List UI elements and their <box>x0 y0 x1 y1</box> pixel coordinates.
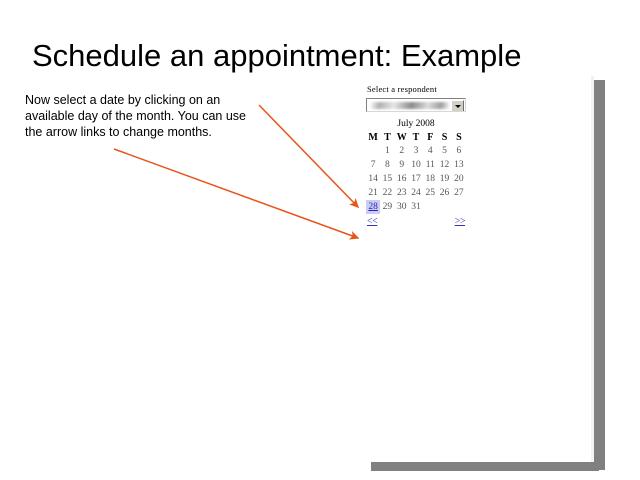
respondent-select[interactable] <box>366 98 466 112</box>
calendar-day[interactable]: 18 <box>423 172 437 186</box>
calendar-day[interactable]: 23 <box>395 186 409 200</box>
calendar-day[interactable]: 21 <box>366 186 380 200</box>
calendar-day[interactable]: 31 <box>409 200 423 214</box>
next-month-link[interactable]: >> <box>455 216 465 227</box>
calendar-day[interactable]: 13 <box>452 158 466 172</box>
calendar-header-row: M T W T F S S <box>366 131 466 144</box>
slide-canvas: Schedule an appointment: Example Now sel… <box>0 0 640 480</box>
calendar-month-label: July 2008 <box>366 119 466 129</box>
calendar-day[interactable]: 19 <box>437 172 451 186</box>
calendar-day[interactable]: 10 <box>409 158 423 172</box>
calendar-nav: << >> <box>366 216 466 230</box>
calendar-day[interactable]: 22 <box>380 186 394 200</box>
calendar-week-row: 14 15 16 17 18 19 20 <box>366 172 466 186</box>
calendar-day[interactable]: 6 <box>452 144 466 158</box>
weekday-header: S <box>437 131 451 144</box>
calendar-day[interactable]: 26 <box>437 186 451 200</box>
weekday-header: W <box>395 131 409 144</box>
annotation-arrow-to-nav <box>114 149 358 238</box>
weekday-header: T <box>380 131 394 144</box>
appointment-widget: Select a respondent July 2008 M T W T F … <box>366 84 476 230</box>
calendar-day-selected[interactable]: 28 <box>366 200 380 214</box>
calendar-day[interactable]: 4 <box>423 144 437 158</box>
calendar-day <box>452 200 466 214</box>
calendar-grid: M T W T F S S 1 2 3 4 <box>366 131 466 214</box>
calendar-day <box>423 200 437 214</box>
calendar-day[interactable]: 11 <box>423 158 437 172</box>
calendar-day[interactable]: 24 <box>409 186 423 200</box>
calendar-day[interactable]: 8 <box>380 158 394 172</box>
weekday-header: F <box>423 131 437 144</box>
prev-month-link[interactable]: << <box>367 216 377 227</box>
calendar-week-row: 7 8 9 10 11 12 13 <box>366 158 466 172</box>
calendar-day[interactable]: 5 <box>437 144 451 158</box>
date-picker: July 2008 M T W T F S S <box>366 119 466 230</box>
calendar-day[interactable]: 29 <box>380 200 394 214</box>
chevron-down-icon[interactable] <box>451 100 464 112</box>
weekday-header: M <box>366 131 380 144</box>
instruction-text: Now select a date by clicking on an avai… <box>25 92 265 140</box>
calendar-day[interactable]: 1 <box>380 144 394 158</box>
calendar-day[interactable]: 17 <box>409 172 423 186</box>
calendar-day[interactable]: 20 <box>452 172 466 186</box>
calendar-day[interactable]: 12 <box>437 158 451 172</box>
calendar-day <box>366 144 380 158</box>
calendar-day[interactable]: 14 <box>366 172 380 186</box>
calendar-day <box>437 200 451 214</box>
page-title: Schedule an appointment: Example <box>32 38 612 74</box>
calendar-day[interactable]: 25 <box>423 186 437 200</box>
calendar-week-row: 1 2 3 4 5 6 <box>366 144 466 158</box>
calendar-day[interactable]: 27 <box>452 186 466 200</box>
caret-glyph <box>455 105 461 108</box>
calendar-day[interactable]: 2 <box>395 144 409 158</box>
calendar-day[interactable]: 3 <box>409 144 423 158</box>
window-shadow-right <box>594 80 605 470</box>
respondent-selected-value <box>370 102 450 109</box>
calendar-week-row: 21 22 23 24 25 26 27 <box>366 186 466 200</box>
calendar-day[interactable]: 30 <box>395 200 409 214</box>
weekday-header: S <box>452 131 466 144</box>
annotation-arrow-to-day <box>259 105 358 207</box>
respondent-label: Select a respondent <box>367 84 476 94</box>
window-shadow-bottom <box>371 462 599 471</box>
calendar-week-row: 28 29 30 31 <box>366 200 466 214</box>
calendar-day[interactable]: 16 <box>395 172 409 186</box>
calendar-day[interactable]: 7 <box>366 158 380 172</box>
calendar-day[interactable]: 9 <box>395 158 409 172</box>
weekday-header: T <box>409 131 423 144</box>
calendar-day[interactable]: 15 <box>380 172 394 186</box>
